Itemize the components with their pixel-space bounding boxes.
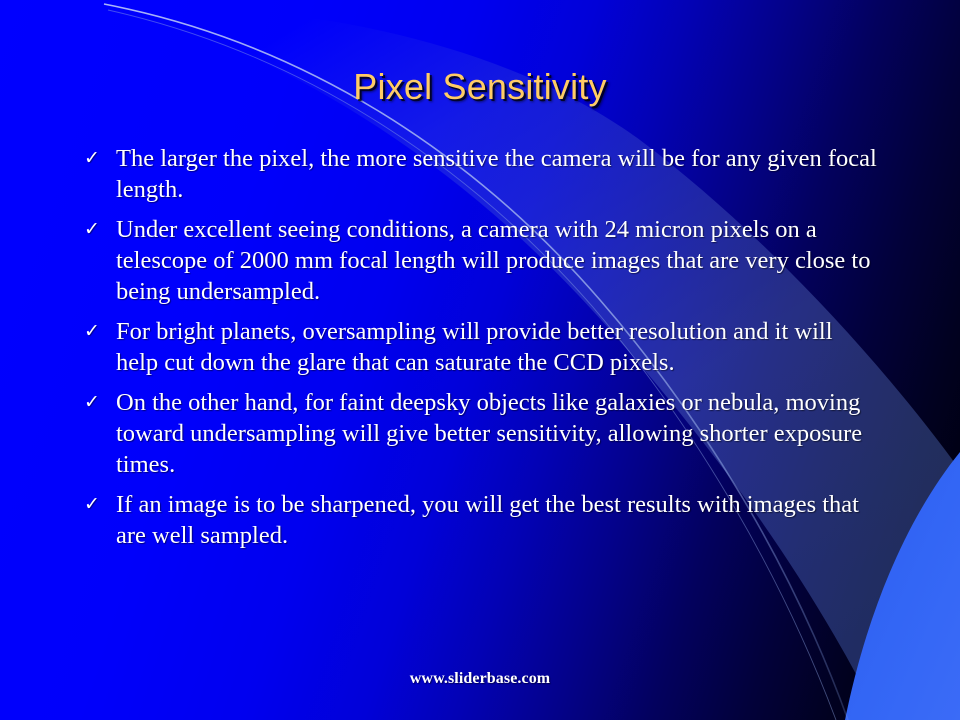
page-title: Pixel Sensitivity [0, 66, 960, 108]
list-item: ✓ Under excellent seeing conditions, a c… [84, 214, 884, 307]
check-icon: ✓ [84, 214, 116, 245]
check-icon: ✓ [84, 387, 116, 418]
slide-canvas: Pixel Sensitivity ✓ The larger the pixel… [0, 0, 960, 720]
list-item: ✓ On the other hand, for faint deepsky o… [84, 387, 884, 480]
list-item-text: For bright planets, oversampling will pr… [116, 316, 884, 378]
list-item: ✓ The larger the pixel, the more sensiti… [84, 143, 884, 205]
footer-url: www.sliderbase.com [0, 670, 960, 688]
check-icon: ✓ [84, 316, 116, 347]
list-item-text: On the other hand, for faint deepsky obj… [116, 387, 884, 480]
list-item-text: The larger the pixel, the more sensitive… [116, 143, 884, 205]
list-item-text: Under excellent seeing conditions, a cam… [116, 214, 884, 307]
list-item: ✓ If an image is to be sharpened, you wi… [84, 489, 884, 551]
bullet-list: ✓ The larger the pixel, the more sensiti… [84, 143, 884, 560]
check-icon: ✓ [84, 143, 116, 174]
list-item: ✓ For bright planets, oversampling will … [84, 316, 884, 378]
check-icon: ✓ [84, 489, 116, 520]
list-item-text: If an image is to be sharpened, you will… [116, 489, 884, 551]
